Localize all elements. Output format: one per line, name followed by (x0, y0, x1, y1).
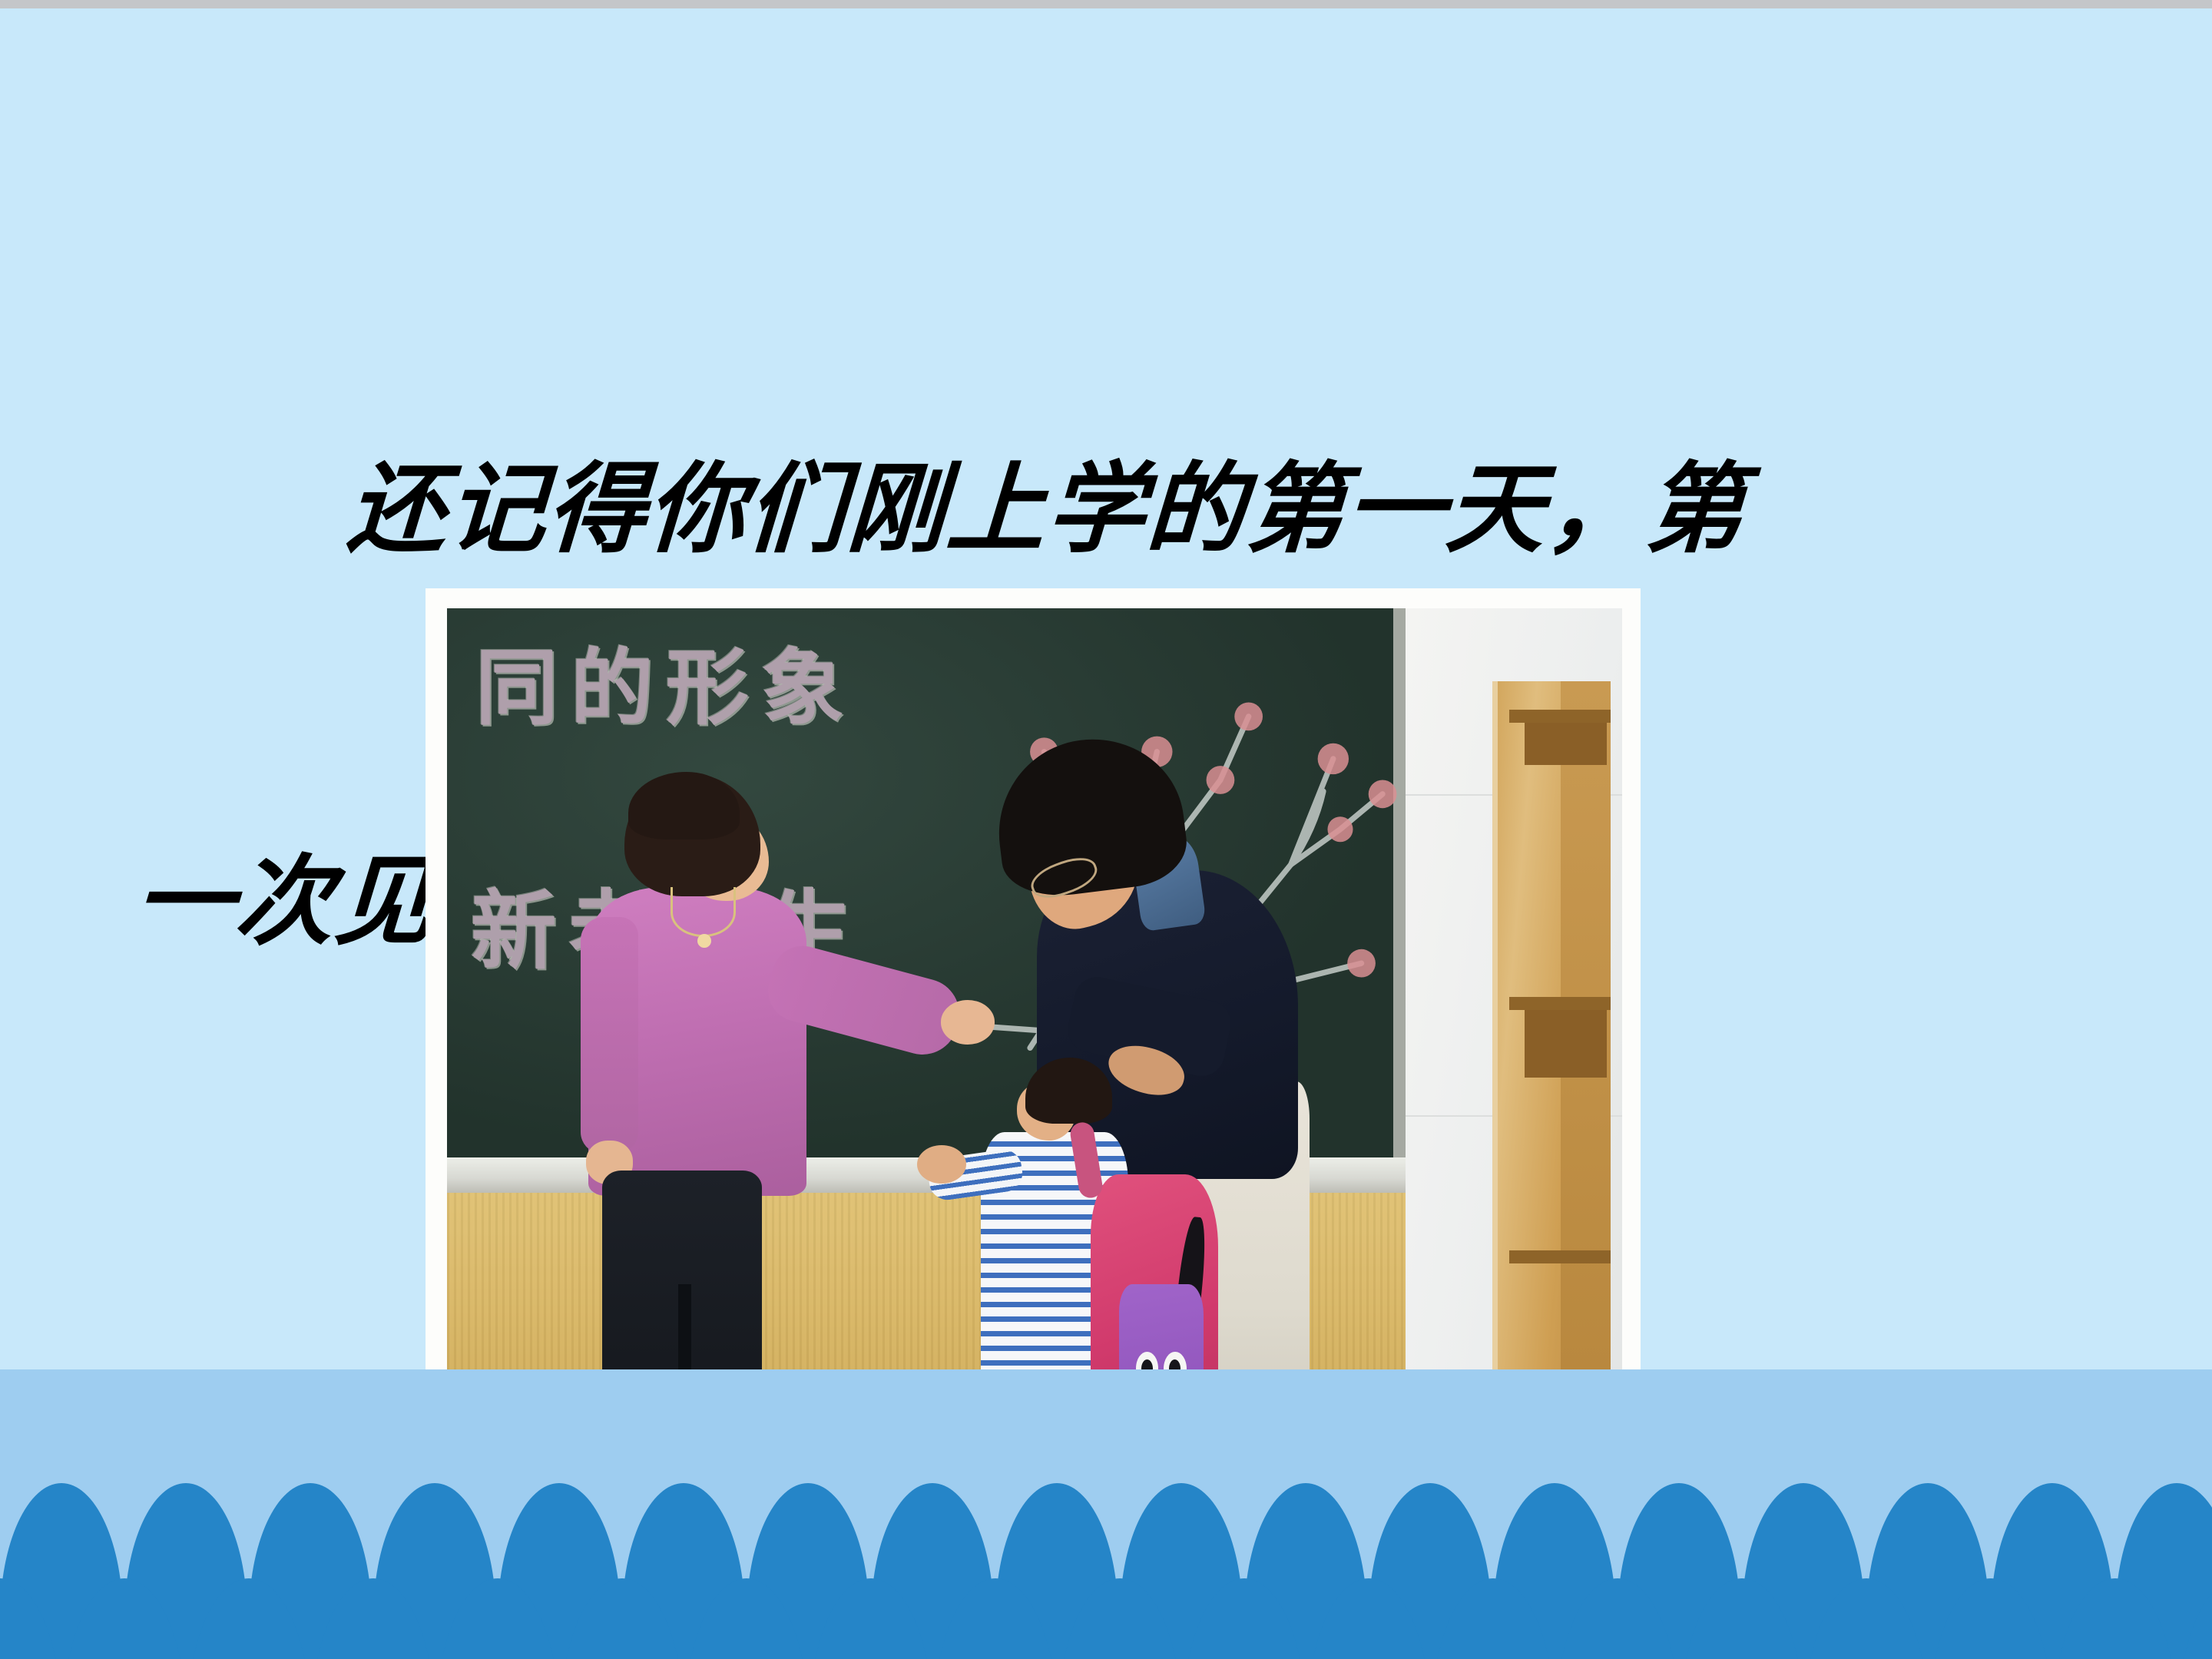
woman-necklace (671, 887, 737, 937)
boy-hand (917, 1145, 966, 1184)
cabinet-shelf (1509, 997, 1611, 1010)
scallop-arch (1183, 1578, 1306, 1659)
scallop-arch (1556, 1578, 1679, 1659)
classroom-photo: 同的形象 新老学生 (447, 608, 1622, 1453)
scallop-arch (1307, 1578, 1430, 1659)
woman-left-arm (581, 917, 638, 1154)
slide-canvas: 还记得你们刚上学的第一天，第 一次见到自己的老师吗？ 同的形象 新老学生 (0, 0, 2212, 1659)
scallop-arch (810, 1578, 932, 1659)
scallop-arch (1432, 1578, 1555, 1659)
scallop-arch (561, 1578, 684, 1659)
scallop-arch (1681, 1578, 1803, 1659)
scallop-arch (63, 1578, 186, 1659)
photo-frame: 同的形象 新老学生 (426, 588, 1641, 1473)
scallop-arch (0, 1578, 61, 1659)
scallop-arch (1805, 1578, 1928, 1659)
blackboard-chalk-line-1: 同的形象 (475, 621, 856, 741)
scallop-arch (436, 1578, 559, 1659)
cabinet-recess (1525, 1010, 1607, 1078)
decorative-scallop-band (0, 1369, 2212, 1659)
scallop-arch (685, 1578, 808, 1659)
scallop-arch (1929, 1578, 2052, 1659)
scallop-arch (934, 1578, 1057, 1659)
scallop-arch (1058, 1578, 1181, 1659)
scallop-row-front (0, 1578, 2151, 1659)
cabinet-shelf (1509, 1250, 1611, 1263)
cabinet-shelf (1509, 710, 1611, 723)
scallop-arch (187, 1578, 310, 1659)
cabinet-recess (1525, 723, 1607, 765)
top-border-rule (0, 0, 2212, 8)
title-line-1: 还记得你们刚上学的第一天，第 (152, 444, 2033, 575)
woman-right-hand (941, 1000, 995, 1044)
scallop-arch (312, 1578, 435, 1659)
